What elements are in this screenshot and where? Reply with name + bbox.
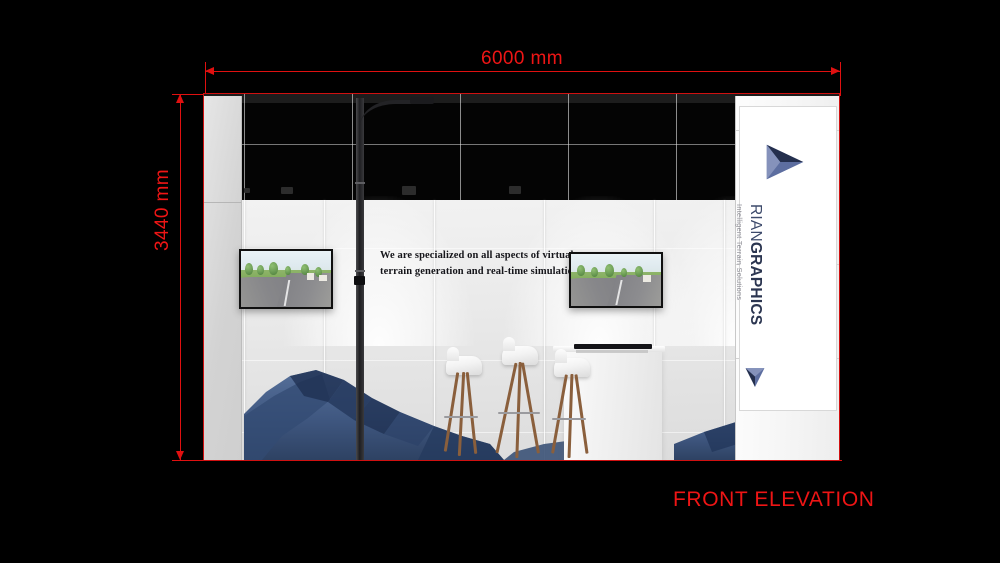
street-lamp-head [410, 97, 434, 104]
stool-backrest [503, 337, 515, 351]
width-dimension-arrow-left [205, 67, 214, 75]
height-dimension-label: 3440 mm [152, 169, 174, 251]
ceiling-light-fixture [509, 186, 521, 194]
wall-monitor-right[interactable] [569, 252, 663, 308]
wall-panel-seam-v [324, 200, 325, 460]
wall-panel-seam-v [434, 200, 435, 460]
ceiling-grid-line-v [352, 94, 353, 200]
ceiling-light-fixture [402, 186, 416, 195]
screen-tree [285, 266, 291, 275]
laptop-icon [574, 344, 652, 349]
ceiling-grid-line-v [460, 94, 461, 200]
width-dimension-arrow-right [831, 67, 840, 75]
screen-tree [257, 265, 264, 275]
wall-panel-seam-v [244, 200, 245, 460]
ceiling-grid-line-v [568, 94, 569, 200]
counter-keyboard [576, 350, 648, 353]
booth-elevation: We are specialized on all aspects of vir… [204, 94, 839, 460]
screen-tree [591, 267, 598, 277]
company-tagline: Intelligent Terrain Solutions [735, 204, 744, 325]
company-logotype: RIANGRAPHICS Intelligent Terrain Solutio… [735, 204, 764, 325]
screen-tree [245, 263, 253, 275]
screen-tree [577, 265, 585, 276]
ceiling-light-fixture [281, 187, 293, 194]
screen-tree [621, 268, 627, 277]
screen-tree [269, 262, 278, 275]
stool-backrest [447, 347, 459, 361]
screen-building [319, 275, 327, 281]
wall-monitor-left[interactable] [239, 249, 333, 309]
company-name: RIANGRAPHICS [747, 204, 764, 325]
wall-panel-seam-v [544, 200, 545, 460]
view-title: FRONT ELEVATION [673, 488, 875, 512]
branding-tower: RIANGRAPHICS Intelligent Terrain Solutio… [735, 96, 839, 460]
monitor-right-screen [571, 254, 661, 306]
monitor-left-screen [241, 251, 331, 307]
wall-statement-text: We are specialized on all aspects of vir… [380, 248, 595, 281]
screen-building [307, 273, 314, 280]
screen-tree [605, 264, 614, 277]
screen-tree [635, 266, 643, 277]
lamp-post-junction-box [354, 276, 365, 285]
width-extension-left [205, 62, 206, 96]
company-name-part2: GRAPHICS [747, 242, 764, 325]
width-extension-right [840, 62, 841, 96]
stool-backrest [555, 349, 567, 363]
height-dimension-line [180, 94, 181, 460]
height-dimension-arrow-top [176, 94, 184, 103]
width-dimension-label: 6000 mm [481, 48, 563, 70]
delta-triangle-icon-small [742, 364, 768, 390]
stool-footrest [552, 418, 586, 420]
ceiling-light-fixture [244, 188, 250, 193]
screen-building [643, 275, 651, 282]
left-pillar-seam [204, 202, 241, 203]
stool-footrest [444, 416, 478, 418]
wall-panel-seam-v [724, 200, 725, 460]
elevation-drawing-canvas: 6000 mm 3440 mm [0, 0, 1000, 563]
delta-triangle-icon [761, 138, 809, 186]
height-dimension-arrow-bottom [176, 451, 184, 460]
stool-footrest [498, 412, 540, 414]
ceiling-grid-line-v [676, 94, 677, 200]
company-name-part1: RIAN [747, 204, 764, 242]
width-dimension-line [205, 71, 840, 72]
ceiling-grid-line-v [244, 94, 245, 200]
lamp-post-band [355, 182, 365, 184]
left-wall-pillar [204, 96, 242, 460]
lamp-post-band [355, 270, 365, 272]
